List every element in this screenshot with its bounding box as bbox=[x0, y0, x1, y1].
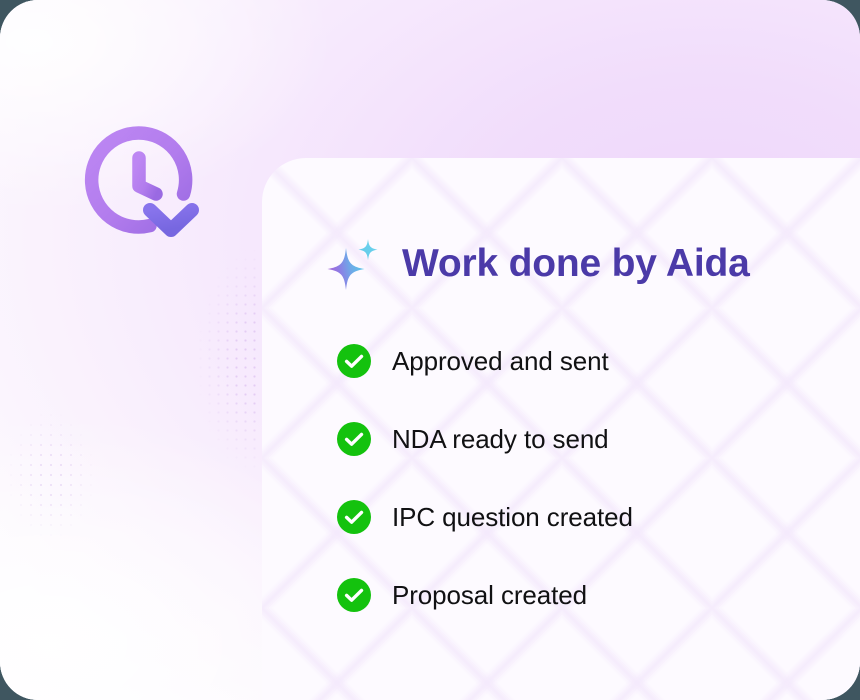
completed-work-list: Approved and sent NDA ready to send IPC … bbox=[337, 344, 633, 612]
work-summary-card: Work done by Aida Approved and sent NDA … bbox=[262, 158, 860, 700]
list-item-label: NDA ready to send bbox=[392, 424, 609, 455]
list-item-label: IPC question created bbox=[392, 502, 633, 533]
list-item: Proposal created bbox=[337, 578, 633, 612]
sparkle-icon bbox=[324, 236, 380, 292]
list-item-label: Approved and sent bbox=[392, 346, 609, 377]
check-circle-icon bbox=[337, 422, 371, 456]
card-header: Work done by Aida bbox=[324, 236, 750, 292]
screen-root: Work done by Aida Approved and sent NDA … bbox=[0, 0, 860, 700]
list-item: NDA ready to send bbox=[337, 422, 633, 456]
list-item: Approved and sent bbox=[337, 344, 633, 378]
check-circle-icon bbox=[337, 344, 371, 378]
list-item-label: Proposal created bbox=[392, 580, 587, 611]
check-circle-icon bbox=[337, 578, 371, 612]
card-title: Work done by Aida bbox=[402, 242, 750, 286]
check-circle-icon bbox=[337, 500, 371, 534]
list-item: IPC question created bbox=[337, 500, 633, 534]
clock-download-icon bbox=[78, 120, 208, 250]
